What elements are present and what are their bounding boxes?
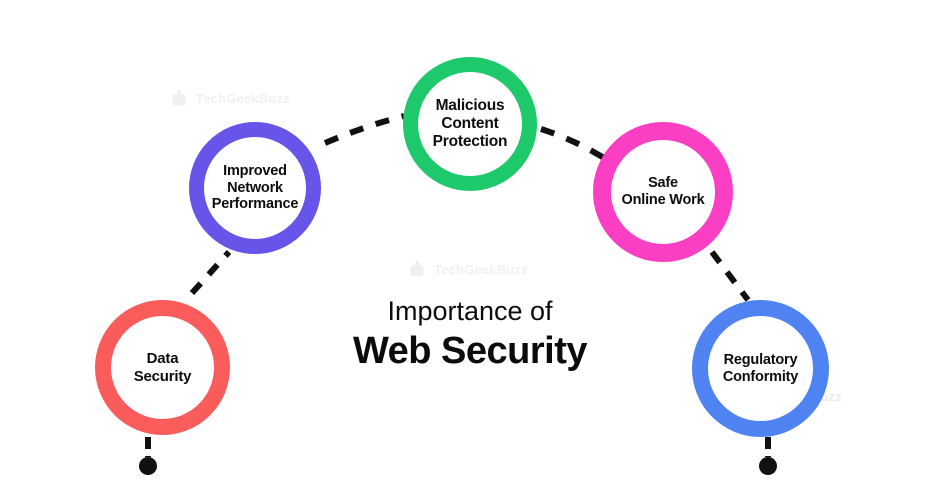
center-heading-line-2: Web Security (300, 329, 640, 375)
connector-data-security-to-improved-network-performance (192, 252, 229, 293)
node-safe-online-work[interactable]: Safe Online Work (593, 122, 733, 262)
node-label-malicious-content-protection: Malicious Content Protection (427, 97, 514, 150)
node-label-improved-network-performance: Improved Network Performance (206, 163, 304, 213)
pin-data-security (139, 437, 157, 475)
connector-safe-online-work-to-regulatory-conformity (712, 252, 748, 300)
techgeekbuzz-logo-icon (168, 87, 190, 109)
connector-malicious-content-protection-to-safe-online-work (541, 129, 604, 158)
node-regulatory-conformity[interactable]: Regulatory Conformity (692, 300, 829, 437)
connector-improved-network-performance-to-malicious-content-protection (325, 116, 404, 143)
center-heading-line-1: Importance of (300, 296, 640, 327)
node-improved-network-performance[interactable]: Improved Network Performance (189, 122, 321, 254)
pin-regulatory-conformity (759, 437, 777, 475)
watermark-label: TechGeekBuzz (434, 262, 528, 277)
node-label-safe-online-work: Safe Online Work (616, 175, 711, 208)
watermark-top-left: TechGeekBuzz (168, 87, 290, 109)
node-label-data-security: Data Security (128, 350, 198, 385)
node-malicious-content-protection[interactable]: Malicious Content Protection (403, 57, 537, 191)
watermark-label: TechGeekBuzz (196, 91, 290, 106)
node-data-security[interactable]: Data Security (95, 300, 230, 435)
watermark-center: TechGeekBuzz (406, 258, 528, 280)
center-heading: Importance of Web Security (300, 296, 640, 375)
techgeekbuzz-logo-icon (406, 258, 428, 280)
node-label-regulatory-conformity: Regulatory Conformity (717, 352, 804, 385)
infographic-canvas: TechGeekBuzz TechGeekBuzz TechGeekBuzz I… (0, 0, 938, 503)
